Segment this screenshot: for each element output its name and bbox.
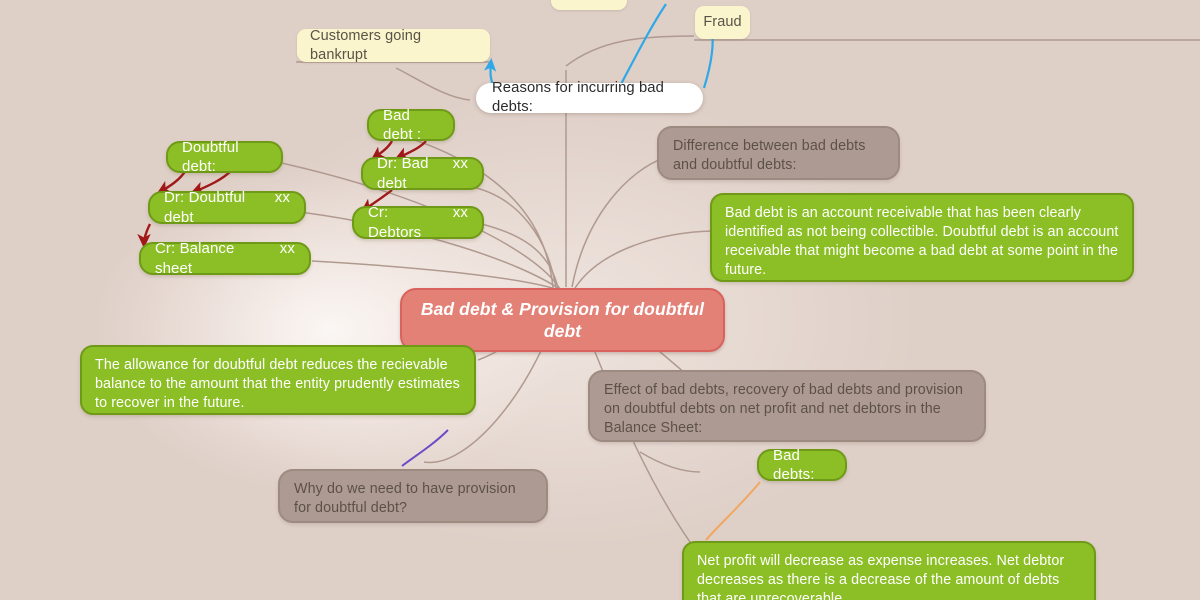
node-fraud[interactable]: Fraud — [695, 6, 750, 39]
node-cr-balance-sheet-label: Cr: Balance sheet — [155, 239, 270, 277]
node-bad-debt-heading[interactable]: Bad debt : — [367, 109, 455, 141]
node-why-provision[interactable]: Why do we need to have provision for dou… — [278, 469, 548, 523]
node-cr-balance-sheet[interactable]: Cr: Balance sheet xx — [139, 242, 311, 275]
node-dr-bad-debt-label: Dr: Bad debt — [377, 154, 443, 192]
node-reasons-heading-label: Reasons for incurring bad debts: — [492, 79, 687, 117]
mindmap-canvas[interactable]: Fraud Customers going bankrupt Reasons f… — [0, 0, 1200, 600]
node-customers-going-bankrupt[interactable]: Customers going bankrupt — [297, 29, 490, 62]
node-dr-doubtful-debt-value: xx — [275, 188, 290, 226]
node-dr-doubtful-debt-label: Dr: Doubtful debt — [164, 188, 265, 226]
edge-allowance-to-why — [402, 430, 448, 466]
node-cr-balance-sheet-row: Cr: Balance sheet xx — [155, 239, 295, 277]
node-difference-body[interactable]: Bad debt is an account receivable that h… — [710, 193, 1134, 282]
arrow-dr-to-cr-balance — [144, 224, 150, 244]
node-difference-heading[interactable]: Difference between bad debts and doubtfu… — [657, 126, 900, 180]
node-bad-debts-sub[interactable]: Bad debts: — [757, 449, 847, 481]
node-difference-body-text: Bad debt is an account receivable that h… — [725, 204, 1119, 280]
node-allowance-body-text: The allowance for doubtful debt reduces … — [95, 356, 461, 413]
node-reasons-heading[interactable]: Reasons for incurring bad debts: — [476, 83, 703, 113]
node-dr-doubtful-debt-row: Dr: Doubtful debt xx — [164, 188, 290, 226]
node-why-provision-label: Why do we need to have provision for dou… — [294, 480, 532, 518]
node-cr-debtors-value: xx — [453, 203, 468, 241]
edge-to-cr-balance-sheet — [312, 261, 562, 291]
node-net-profit-body[interactable]: Net profit will decrease as expense incr… — [682, 541, 1096, 600]
edge-to-difference — [572, 158, 664, 287]
edge-to-dr-bad-debt — [468, 186, 556, 288]
node-cr-balance-sheet-value: xx — [280, 239, 295, 277]
node-cr-debtors-row: Cr: Debtors xx — [368, 203, 468, 241]
node-allowance-body[interactable]: The allowance for doubtful debt reduces … — [80, 345, 476, 415]
edge-to-cr-debtors — [482, 224, 558, 288]
node-central-label: Bad debt & Provision for doubtful debt — [418, 298, 707, 343]
node-fraud-label: Fraud — [703, 13, 741, 32]
node-doubtful-debt-heading[interactable]: Doubtful debt: — [166, 141, 283, 173]
edge-reasons-to-bankrupt — [396, 68, 470, 100]
orange-edges — [706, 482, 760, 540]
node-top-clipped[interactable] — [551, 0, 627, 10]
node-difference-heading-label: Difference between bad debts and doubtfu… — [673, 137, 884, 175]
node-dr-bad-debt-row: Dr: Bad debt xx — [377, 154, 468, 192]
edge-to-difference-body — [575, 231, 714, 288]
edge-bad-debts-to-netprofit — [706, 482, 760, 540]
node-cr-debtors[interactable]: Cr: Debtors xx — [352, 206, 484, 239]
node-doubtful-debt-heading-label: Doubtful debt: — [182, 138, 267, 176]
edge-reasons-to-fraud — [566, 36, 694, 66]
node-cr-debtors-label: Cr: Debtors — [368, 203, 443, 241]
node-central[interactable]: Bad debt & Provision for doubtful debt — [400, 288, 725, 352]
node-customers-going-bankrupt-label: Customers going bankrupt — [310, 27, 477, 64]
node-dr-bad-debt-value: xx — [453, 154, 468, 192]
edge-effect-to-bad-debts-sub — [640, 452, 700, 472]
node-bad-debts-sub-label: Bad debts: — [773, 446, 831, 484]
node-effect-heading-label: Effect of bad debts, recovery of bad deb… — [604, 381, 970, 438]
purple-edges — [402, 430, 448, 466]
blue-edges — [490, 4, 712, 88]
node-net-profit-body-text: Net profit will decrease as expense incr… — [697, 552, 1081, 600]
node-bad-debt-heading-label: Bad debt : — [383, 106, 439, 144]
node-dr-bad-debt[interactable]: Dr: Bad debt xx — [361, 157, 484, 190]
node-effect-heading[interactable]: Effect of bad debts, recovery of bad deb… — [588, 370, 986, 442]
edge-blue-to-top-node — [620, 4, 666, 86]
node-dr-doubtful-debt[interactable]: Dr: Doubtful debt xx — [148, 191, 306, 224]
